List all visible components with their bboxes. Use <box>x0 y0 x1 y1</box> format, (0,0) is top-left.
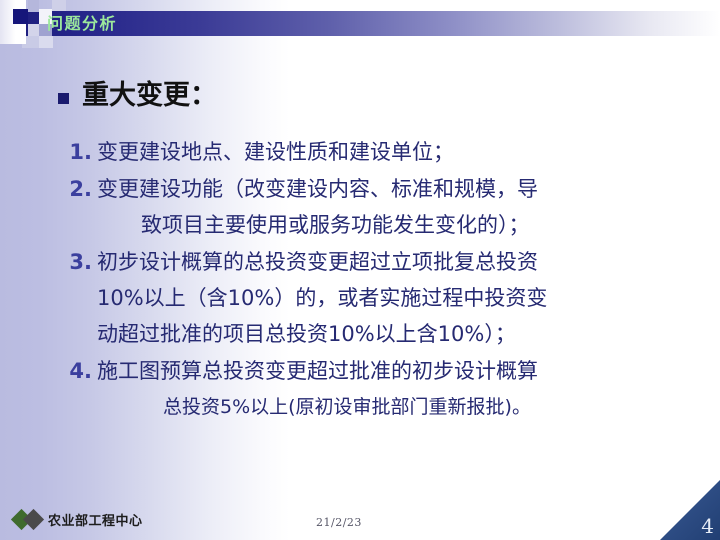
section-heading: 重大变更： <box>58 80 217 111</box>
square-bullet-icon <box>58 93 69 104</box>
list-item: 2. 变更建设功能（改变建设内容、标准和规模，导 致项目主要使用或服务功能发生变… <box>66 171 666 243</box>
section-heading-text: 重大变更： <box>82 80 217 111</box>
list-item-line: 致项目主要使用或服务功能发生变化的）； <box>97 207 666 243</box>
slide-content: 重大变更： 1. 变更建设地点、建设性质和建设单位； 2. 变更建设功能（改变建… <box>0 0 720 540</box>
list-item: 3. 初步设计概算的总投资变更超过立项批复总投资 10%以上（含10%）的，或者… <box>66 244 666 352</box>
decor-square-top <box>28 0 39 12</box>
page-number: 4 <box>701 514 714 538</box>
list-item-line: 施工图预算总投资变更超过批准的初步设计概算 <box>97 353 666 389</box>
slide-canvas: 问题分析 重大变更： 1. 变更建设地点、建设性质和建设单位； 2. 变更建设功… <box>0 0 720 540</box>
list-item-body: 初步设计概算的总投资变更超过立项批复总投资 10%以上（含10%）的，或者实施过… <box>97 244 666 352</box>
list-item-number: 2. <box>66 171 92 207</box>
decor-square-lower <box>28 24 39 36</box>
list-item: 4. 施工图预算总投资变更超过批准的初步设计概算 总投资5%以上(原初设审批部门… <box>66 353 666 425</box>
list-item-number: 1. <box>66 134 92 170</box>
list-item-body: 施工图预算总投资变更超过批准的初步设计概算 总投资5%以上(原初设审批部门重新报… <box>97 353 666 425</box>
list-item-number: 4. <box>66 353 92 389</box>
list-item-line: 10%以上（含10%）的，或者实施过程中投资变 <box>97 280 666 316</box>
list-item-line: 总投资5%以上(原初设审批部门重新报批)。 <box>97 389 666 425</box>
numbered-list: 1. 变更建设地点、建设性质和建设单位； 2. 变更建设功能（改变建设内容、标准… <box>66 134 666 426</box>
slide-title: 问题分析 <box>47 11 117 36</box>
decor-square-top-right <box>52 0 66 11</box>
list-item-line: 动超过批准的项目总投资10%以上含10%）； <box>97 316 666 352</box>
footer-logo: 农业部工程中心 <box>14 510 143 529</box>
list-item-body: 变更建设地点、建设性质和建设单位； <box>97 134 666 170</box>
list-item: 1. 变更建设地点、建设性质和建设单位； <box>66 134 666 170</box>
footer-date: 21/2/23 <box>316 516 362 529</box>
list-item-number: 3. <box>66 244 92 280</box>
list-item-line: 变更建设功能（改变建设内容、标准和规模，导 <box>97 171 666 207</box>
list-item-line: 初步设计概算的总投资变更超过立项批复总投资 <box>97 244 666 280</box>
footer-organization: 农业部工程中心 <box>48 510 143 529</box>
diamond-gray-icon <box>23 509 44 530</box>
list-item-line: 变更建设地点、建设性质和建设单位； <box>97 134 666 170</box>
list-item-body: 变更建设功能（改变建设内容、标准和规模，导 致项目主要使用或服务功能发生变化的）… <box>97 171 666 243</box>
decor-square-lower-right <box>39 36 53 48</box>
decor-navy-square <box>13 9 28 24</box>
